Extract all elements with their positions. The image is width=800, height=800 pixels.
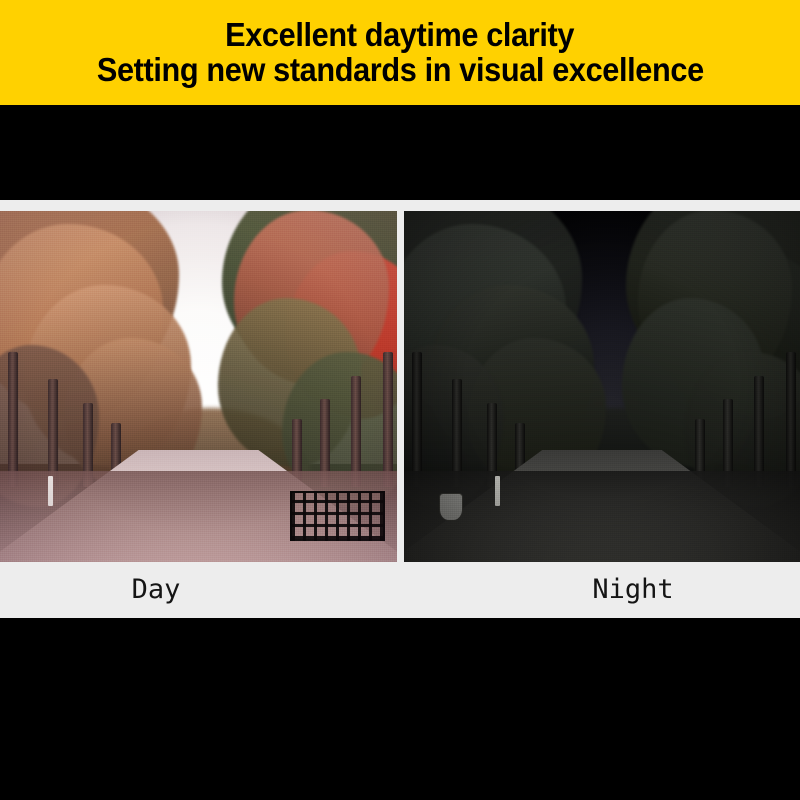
night-right-verge [602, 471, 800, 562]
day-left-verge [0, 471, 199, 562]
day-gate [290, 491, 385, 541]
bottom-black-band [0, 618, 800, 800]
headline-line-2: Setting new standards in visual excellen… [97, 53, 704, 88]
night-photo [404, 211, 800, 562]
day-night-comparison-panel: Day Night [0, 200, 800, 618]
night-road-sign [440, 494, 462, 520]
night-scene [404, 211, 800, 562]
night-marker-post [495, 476, 500, 506]
screenshot-root: Excellent daytime clarity Setting new st… [0, 0, 800, 800]
day-caption: Day [0, 562, 312, 618]
day-photo [0, 211, 397, 562]
night-left-verge [404, 471, 602, 562]
day-marker-post [48, 476, 53, 506]
night-caption: Night [404, 562, 800, 618]
headline-line-1: Excellent daytime clarity [226, 18, 575, 53]
caption-row: Day Night [0, 562, 800, 618]
headline-banner: Excellent daytime clarity Setting new st… [0, 0, 800, 105]
top-black-band [0, 105, 800, 200]
day-scene [0, 211, 397, 562]
